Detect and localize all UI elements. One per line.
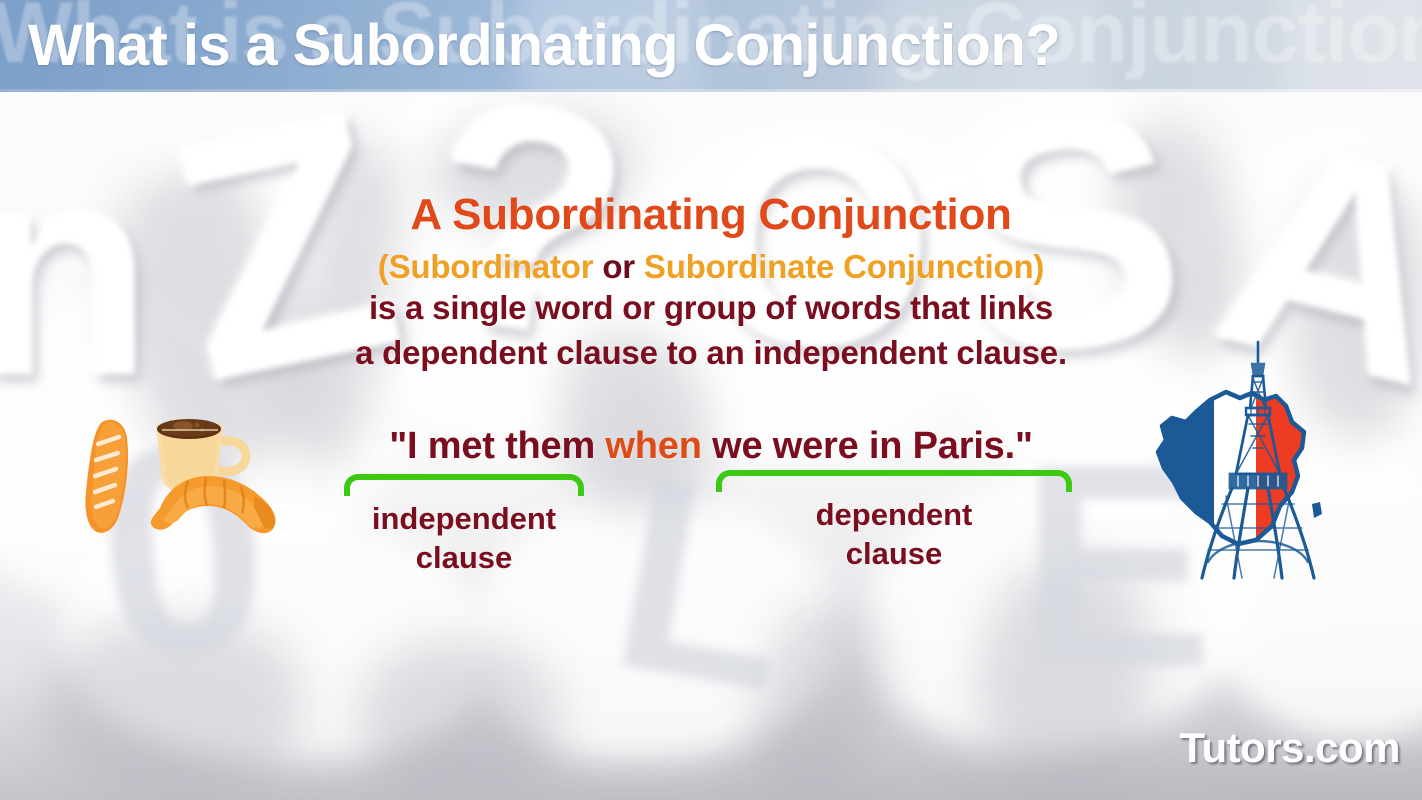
paren-close: ): [1033, 248, 1044, 285]
example-keyword-when: when: [605, 425, 701, 467]
tutors-watermark: Tutors.com: [1179, 724, 1400, 772]
label-independent-clause: independent clause: [344, 500, 584, 578]
paren-open: (: [378, 248, 389, 285]
example-text-after: we were in Paris.": [702, 425, 1033, 467]
brace-dependent-clause: [716, 470, 1072, 492]
french-breakfast-illustration: [78, 400, 298, 535]
definition-term: A Subordinating Conjunction: [0, 190, 1422, 241]
alias-or: or: [602, 248, 635, 285]
brace-independent-clause: [344, 474, 584, 496]
label-independent-line-1: independent: [344, 500, 584, 539]
title-bar: What is a Subordinating Conjunction What…: [0, 0, 1422, 92]
slide-canvas: n Z ? O S A 0 L E What is a Subordinatin…: [0, 0, 1422, 800]
label-dependent-line-2: clause: [716, 535, 1072, 574]
label-dependent-clause: dependent clause: [716, 496, 1072, 574]
example-text-before: "I met them: [389, 425, 605, 467]
page-title: What is a Subordinating Conjunction?: [28, 12, 1060, 79]
label-independent-line-2: clause: [344, 539, 584, 578]
alias-subordinator: Subordinator: [389, 248, 594, 285]
definition-body-line-1: is a single word or group of words that …: [0, 286, 1422, 331]
france-eiffel-illustration: [1152, 336, 1338, 588]
baguette-icon: [85, 420, 128, 533]
definition-aliases: (Subordinator or Subordinate Conjunction…: [0, 247, 1422, 287]
alias-subordinate-conjunction: Subordinate Conjunction: [644, 248, 1034, 285]
label-dependent-line-1: dependent: [716, 496, 1072, 535]
